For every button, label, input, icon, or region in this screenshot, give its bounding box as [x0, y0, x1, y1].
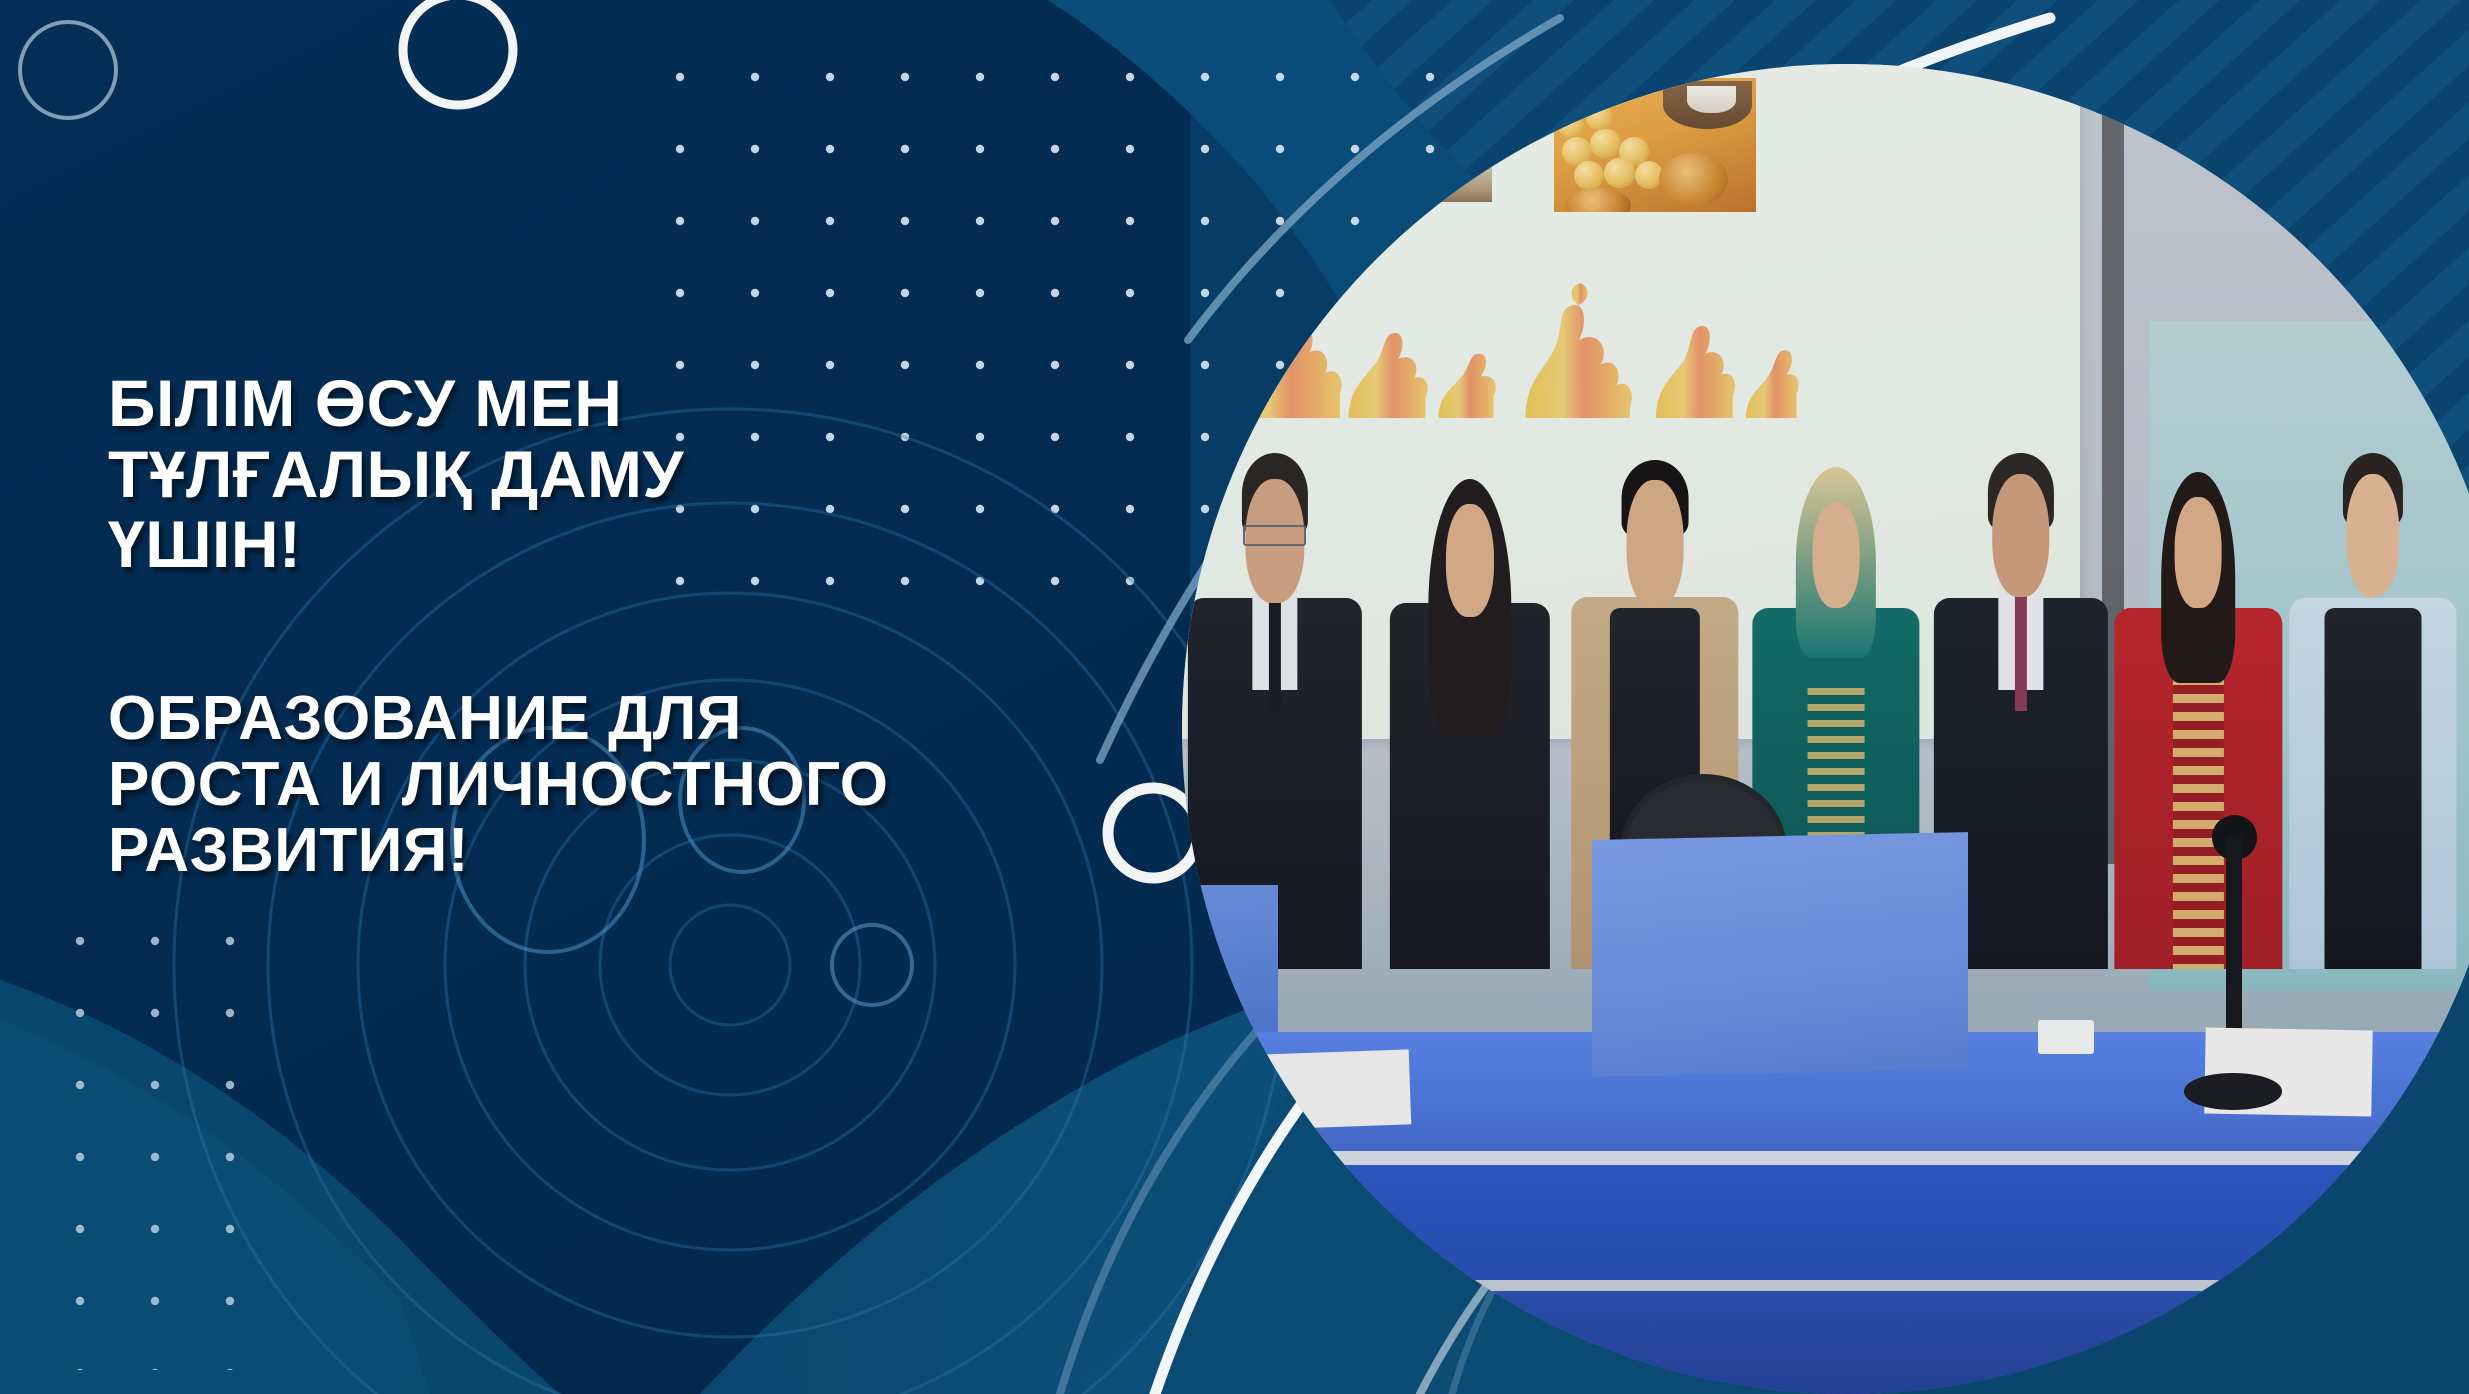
headline-russian-line-1: ОБРАЗОВАНИЕ ДЛЯ [108, 686, 1228, 752]
headline-kazakh-line-3: ҮШІН! [108, 509, 1228, 580]
headline-russian-line-2: РОСТА И ЛИЧНОСТНОГО [108, 752, 1228, 818]
ring-small-top-left [20, 22, 116, 118]
group-photo-medallion [1182, 64, 2469, 1394]
headline-kazakh: БІЛІМ ӨСУ МЕН ТҰЛҒАЛЫҚ ДАМУ ҮШІН! [108, 368, 1228, 580]
headline-kazakh-line-1: БІЛІМ ӨСУ МЕН [108, 368, 1228, 439]
headline-russian-line-3: РАЗВИТИЯ! [108, 818, 1228, 884]
photo-tint-overlay [1182, 64, 2469, 1394]
ring-white-top-center [403, 0, 513, 105]
headline-group: БІЛІМ ӨСУ МЕН ТҰЛҒАЛЫҚ ДАМУ ҮШІН! ОБРАЗО… [108, 368, 1228, 885]
headline-russian: ОБРАЗОВАНИЕ ДЛЯ РОСТА И ЛИЧНОСТНОГО РАЗВ… [108, 686, 1228, 885]
ring-blue-small [832, 925, 912, 1005]
headline-kazakh-line-2: ТҰЛҒАЛЫҚ ДАМУ [108, 439, 1228, 510]
presentation-slide: БІЛІМ ӨСУ МЕН ТҰЛҒАЛЫҚ ДАМУ ҮШІН! ОБРАЗО… [0, 0, 2469, 1394]
group-photo [1182, 64, 2469, 1394]
